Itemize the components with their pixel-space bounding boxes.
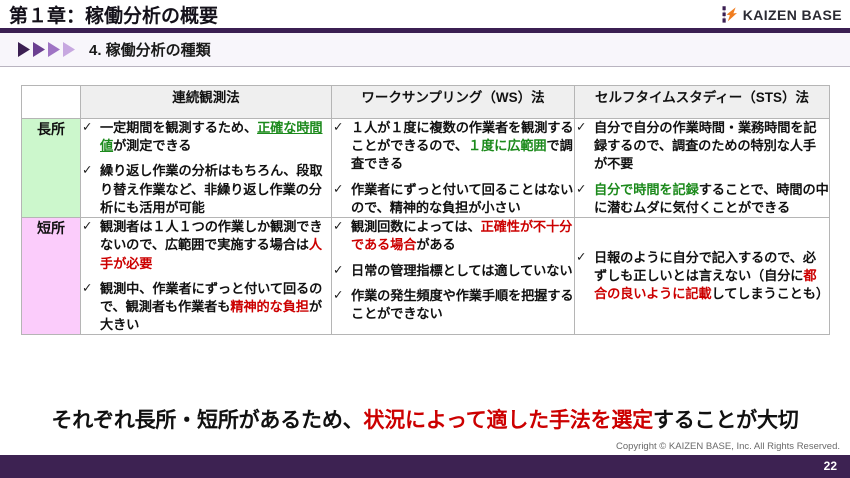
- bullet-item: 観測中、作業者にずっと付いて回るので、観測者も作業者も精神的な負担が大きい: [81, 280, 331, 335]
- section-subtitle: 4. 稼働分析の種類: [89, 39, 211, 60]
- bullet-item: 日常の管理指標としては適していない: [332, 262, 574, 280]
- cell-r0-c2: 自分で自分の作業時間・業務時間を記録するので、調査のための特別な人手が不要自分で…: [575, 119, 830, 218]
- bullet-r0-c2-0-text-0: 自分で自分の作業時間・業務時間を記録するので、調査のための特別な人手が不要: [594, 120, 817, 171]
- summary-text-2: することが大切: [653, 409, 799, 432]
- bullet-r1-c1-2-text-0: 作業の発生頻度や作業手順を把握することができない: [351, 288, 574, 321]
- comparison-table: 連続観測法 ワークサンプリング（WS）法 セルフタイムスタディー（STS）法 長…: [21, 85, 830, 335]
- brand-name: KAIZEN BASE: [743, 7, 842, 23]
- bullet-list: 一定期間を観測するため、正確な時間値が測定できる繰り返し作業の分析はもちろん、段…: [81, 119, 331, 217]
- summary-statement: それぞれ長所・短所があるため、状況によって適した手法を選定することが大切: [0, 404, 850, 434]
- bullet-item: 一定期間を観測するため、正確な時間値が測定できる: [81, 119, 331, 155]
- summary-text-0: それぞれ長所・短所があるため、: [51, 409, 363, 432]
- brand-logo: KAIZEN BASE: [717, 4, 842, 25]
- bullet-r1-c1-0-text-0: 観測回数によっては、: [351, 219, 481, 234]
- cell-r1-c2: 日報のように自分で記入するので、必ずしも正しいとは言えない（自分に都合の良いよう…: [575, 218, 830, 335]
- bullet-list: 観測者は１人１つの作業しか観測できないので、広範囲で実施する場合は人手が必要観測…: [81, 218, 331, 334]
- bullet-r0-c1-1-text-0: 作業者にずっと付いて回ることはないので、精神的な負担が小さい: [351, 182, 573, 215]
- bullet-r0-c0-1-text-0: 繰り返し作業の分析はもちろん、段取り替え作業など、非繰り返し作業の分析にも活用が…: [100, 163, 323, 214]
- bullet-item: 観測回数によっては、正確性が不十分である場合がある: [332, 218, 574, 254]
- subtitle-band: 4. 稼働分析の種類: [0, 33, 850, 67]
- row-label-cons: 短所: [22, 218, 81, 335]
- footer-bar: [0, 455, 850, 478]
- cell-r0-c0: 一定期間を観測するため、正確な時間値が測定できる繰り返し作業の分析はもちろん、段…: [81, 119, 332, 218]
- bullet-item: 作業者にずっと付いて回ることはないので、精神的な負担が小さい: [332, 181, 574, 217]
- table-row: 短所観測者は１人１つの作業しか観測できないので、広範囲で実施する場合は人手が必要…: [22, 218, 830, 335]
- table-header-row: 連続観測法 ワークサンプリング（WS）法 セルフタイムスタディー（STS）法: [22, 86, 830, 119]
- bullet-item: 観測者は１人１つの作業しか観測できないので、広範囲で実施する場合は人手が必要: [81, 218, 331, 273]
- summary-highlight-1: 状況によって適した手法を選定: [363, 409, 653, 432]
- bullet-item: 自分で自分の作業時間・業務時間を記録するので、調査のための特別な人手が不要: [575, 119, 829, 174]
- bullet-item: 自分で時間を記録することで、時間の中に潜むムダに気付くことができる: [575, 181, 829, 217]
- bullet-r1-c1-1-text-0: 日常の管理指標としては適していない: [351, 263, 572, 278]
- bullet-list: 日報のように自分で記入するので、必ずしも正しいとは言えない（自分に都合の良いよう…: [575, 249, 829, 304]
- bullet-r1-c0-0-text-0: 観測者は１人１つの作業しか観測できないので、広範囲で実施する場合は: [100, 219, 323, 252]
- bullet-r1-c1-0-text-2: がある: [416, 237, 455, 252]
- column-header-continuous-observation: 連続観測法: [81, 86, 332, 119]
- copyright-notice: Copyright © KAIZEN BASE, Inc. All Rights…: [616, 441, 840, 452]
- table-corner-cell: [22, 86, 81, 119]
- table-row: 長所一定期間を観測するため、正確な時間値が測定できる繰り返し作業の分析はもちろん…: [22, 119, 830, 218]
- triple-chevron-right-icon: [17, 41, 77, 58]
- bullet-list: １人が１度に複数の作業者を観測することができるので、１度に広範囲で調査できる作業…: [332, 119, 574, 217]
- bullet-item: 日報のように自分で記入するので、必ずしも正しいとは言えない（自分に都合の良いよう…: [575, 249, 829, 304]
- bullet-list: 自分で自分の作業時間・業務時間を記録するので、調査のための特別な人手が不要自分で…: [575, 119, 829, 217]
- bullet-r0-c0-0-text-0: 一定期間を観測するため、: [100, 120, 257, 135]
- bullet-item: １人が１度に複数の作業者を観測することができるので、１度に広範囲で調査できる: [332, 119, 574, 174]
- bullet-r1-c2-0-text-2: してしまうことも）: [712, 286, 829, 301]
- column-header-self-time-study: セルフタイムスタディー（STS）法: [575, 86, 830, 119]
- cell-r1-c1: 観測回数によっては、正確性が不十分である場合がある日常の管理指標としては適してい…: [332, 218, 575, 335]
- bullet-r1-c0-1-highlight-1: 精神的な負担: [230, 299, 309, 314]
- bullet-r0-c2-1-highlight-0: 自分で時間を記録: [594, 182, 699, 197]
- page-number: 22: [824, 459, 837, 473]
- bullet-r0-c1-0-highlight-1: １度に広範囲: [468, 138, 547, 153]
- bullet-item: 作業の発生頻度や作業手順を把握することができない: [332, 287, 574, 323]
- bullet-r1-c2-0-text-0: 日報のように自分で記入するので、必ずしも正しいとは言えない（自分に: [594, 250, 816, 283]
- bullet-item: 繰り返し作業の分析はもちろん、段取り替え作業など、非繰り返し作業の分析にも活用が…: [81, 162, 331, 217]
- bullet-r0-c0-0-text-2: が測定できる: [113, 138, 191, 153]
- cell-r1-c0: 観測者は１人１つの作業しか観測できないので、広範囲で実施する場合は人手が必要観測…: [81, 218, 332, 335]
- page-title: 第１章：稼働分析の概要: [9, 1, 218, 28]
- column-header-work-sampling: ワークサンプリング（WS）法: [332, 86, 575, 119]
- row-label-pros: 長所: [22, 119, 81, 218]
- bullet-list: 観測回数によっては、正確性が不十分である場合がある日常の管理指標としては適してい…: [332, 218, 574, 323]
- kaizen-k-mark-icon: [717, 4, 738, 25]
- cell-r0-c1: １人が１度に複数の作業者を観測することができるので、１度に広範囲で調査できる作業…: [332, 119, 575, 218]
